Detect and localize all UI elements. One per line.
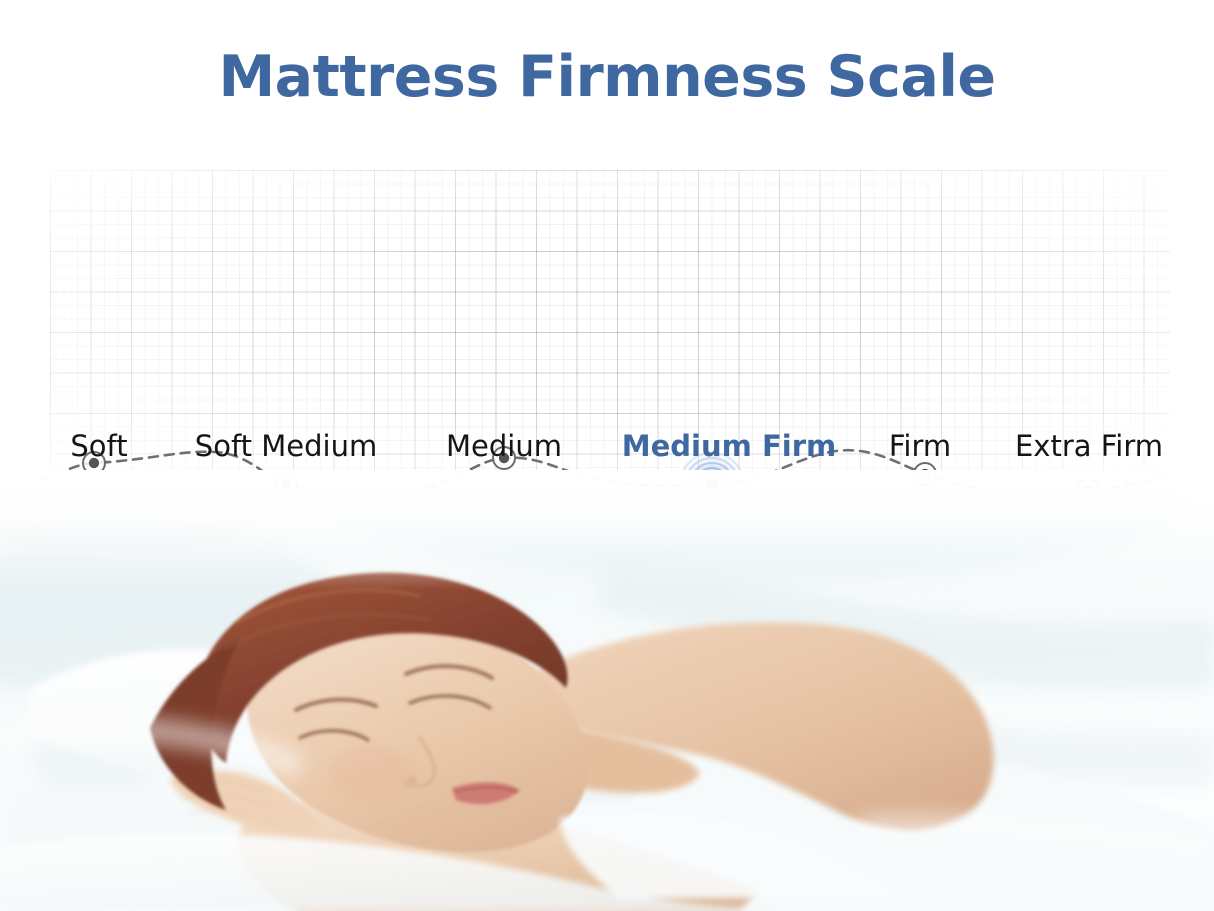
firmness-label-firm[interactable]: Firm [889,432,951,461]
firmness-label-medium-firm[interactable]: Medium Firm [622,432,836,461]
firmness-label-row: Soft Soft Medium Medium Medium Firm Firm… [0,432,1214,480]
firmness-label-soft-medium[interactable]: Soft Medium [195,432,377,461]
mattress-firmness-scale-page: Mattress Firmness Scale [0,0,1214,911]
firmness-label-soft[interactable]: Soft [70,432,127,461]
page-title: Mattress Firmness Scale [0,46,1214,109]
firmness-label-medium[interactable]: Medium [446,432,562,461]
sleeping-woman-photo [0,488,1214,911]
firmness-label-extra-firm[interactable]: Extra Firm [1015,432,1163,461]
